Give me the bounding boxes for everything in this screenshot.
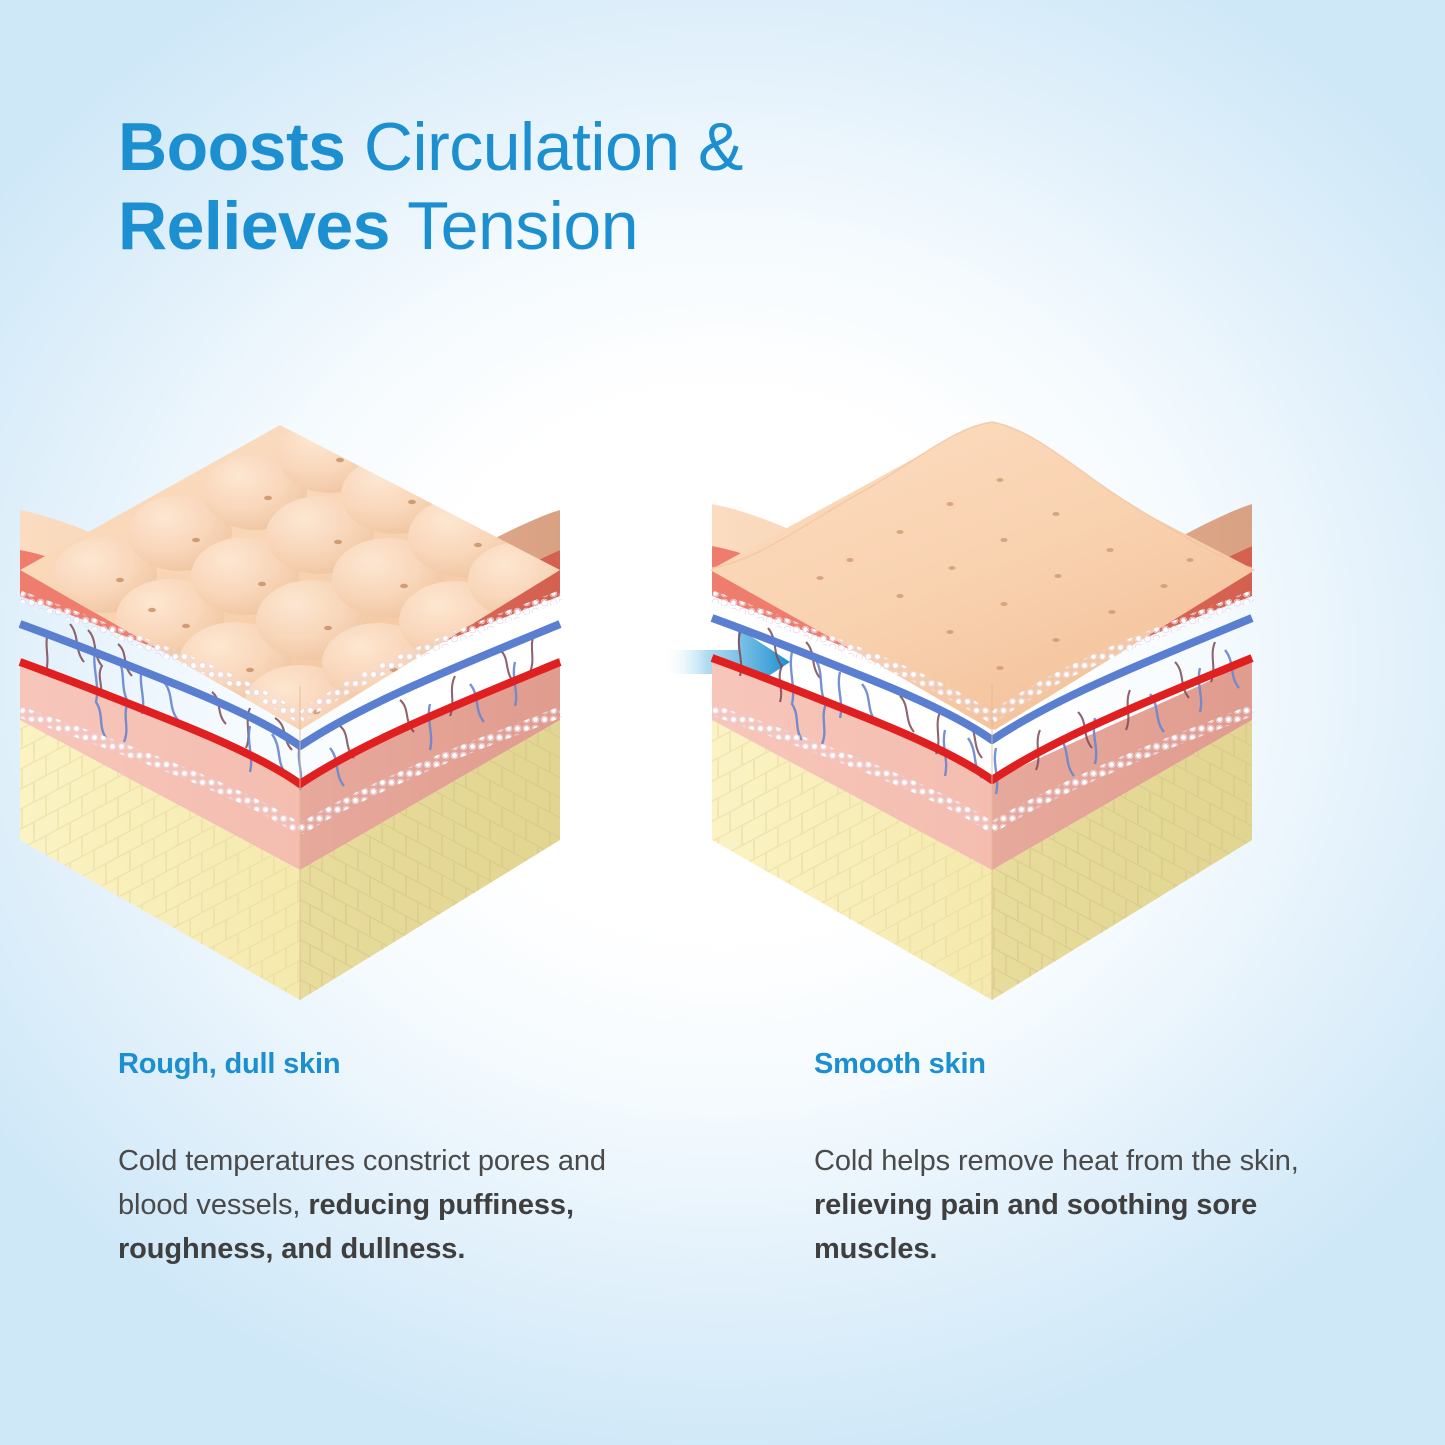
- panel-rough-body: Cold temperatures constrict pores and bl…: [118, 1139, 678, 1271]
- panel-smooth-body-bold: relieving pain and soothing sore muscles…: [814, 1189, 1257, 1265]
- panel-smooth-body: Cold helps remove heat from the skin, re…: [814, 1139, 1374, 1271]
- poster-background: Boosts Circulation & Relieves Tension: [0, 0, 1445, 1445]
- headline-bold-2: Relieves: [118, 188, 390, 264]
- headline-rest-1: Circulation &: [345, 109, 742, 185]
- skin-comparison-illustration: [0, 400, 1445, 1000]
- headline-rest-2: Tension: [390, 188, 638, 264]
- panel-smooth-text: Smooth skin Cold helps remove heat from …: [814, 1048, 1374, 1271]
- panel-rough-title: Rough, dull skin: [118, 1048, 678, 1081]
- panel-rough-text: Rough, dull skin Cold temperatures const…: [118, 1048, 678, 1271]
- headline-bold-1: Boosts: [118, 109, 345, 185]
- page-title: Boosts Circulation & Relieves Tension: [118, 108, 1118, 266]
- skin-block-rough: [20, 417, 572, 1000]
- skin-block-smooth: [710, 422, 1255, 1000]
- panel-smooth-title: Smooth skin: [814, 1048, 1374, 1081]
- panel-smooth-body-normal: Cold helps remove heat from the skin,: [814, 1145, 1299, 1177]
